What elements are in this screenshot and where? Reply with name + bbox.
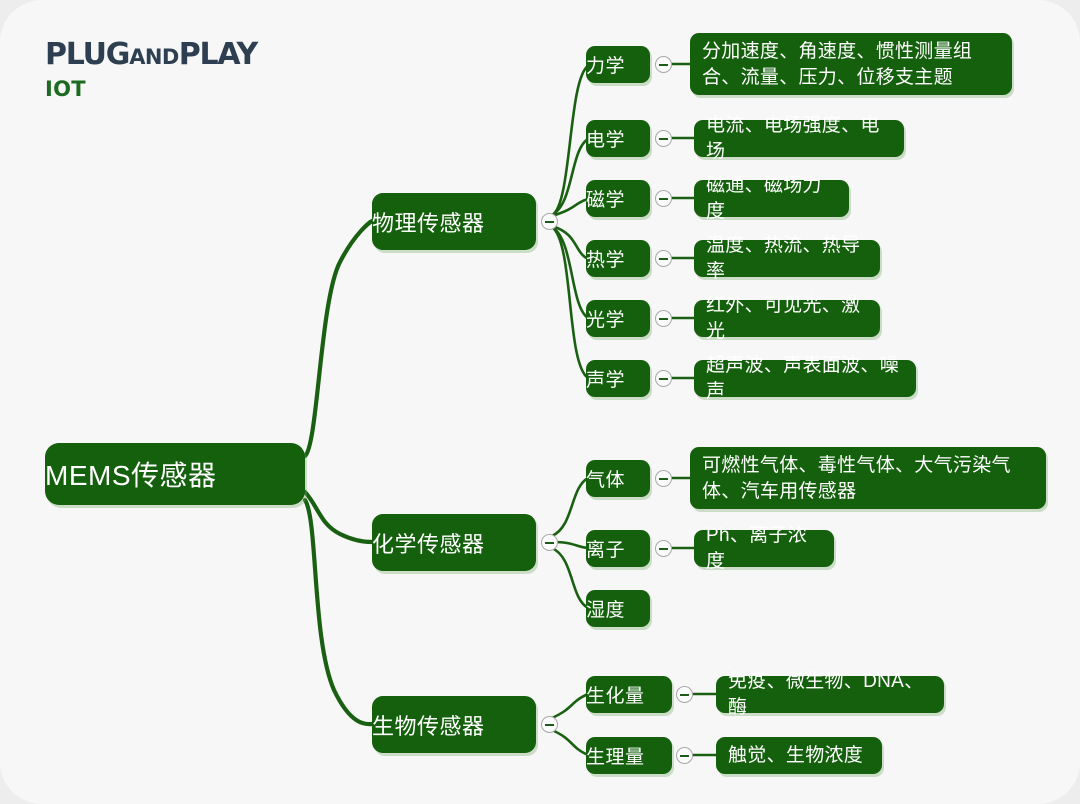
node-physiological-quantity-detail-label: 触觉、生物浓度 <box>728 743 870 769</box>
toggle-ion[interactable] <box>655 540 672 557</box>
node-physiological-quantity-label: 生理量 <box>586 742 672 769</box>
node-physiological-quantity[interactable]: 生理量 <box>586 737 672 774</box>
node-acoustics[interactable]: 声学 <box>586 360 650 397</box>
edge-root-physical <box>305 221 372 456</box>
node-mechanics[interactable]: 力学 <box>586 46 650 83</box>
node-chemical-sensor[interactable]: 化学传感器 <box>372 514 536 571</box>
toggle-gas[interactable] <box>655 470 672 487</box>
node-electrics-label: 电学 <box>586 125 650 152</box>
minus-icon <box>659 548 668 550</box>
node-biochemical-quantity-detail-label: 免疫、微生物、DNA、酶 <box>728 669 932 720</box>
node-root-label: MEMS传感器 <box>45 454 305 494</box>
edge-biological-physio <box>552 730 588 755</box>
toggle-electrics[interactable] <box>655 130 672 147</box>
edge-root-chemical <box>305 492 372 542</box>
minus-icon <box>659 138 668 140</box>
edge-root-biological <box>305 500 372 724</box>
node-electrics-detail[interactable]: 电流、电场强度、电场 <box>694 120 904 157</box>
node-chemical-sensor-label: 化学传感器 <box>372 527 536 559</box>
node-thermal-detail[interactable]: 温度、热流、热导率 <box>694 240 880 277</box>
node-humidity[interactable]: 湿度 <box>586 590 650 627</box>
minus-icon <box>680 694 689 696</box>
minus-icon <box>659 318 668 320</box>
logo-secondary-text: IOT <box>45 79 257 100</box>
minus-icon <box>545 542 554 544</box>
node-acoustics-detail-label: 超声波、声表面波、噪声 <box>706 353 904 404</box>
node-mechanics-label: 力学 <box>586 51 650 78</box>
edge-physical-acoustics <box>552 227 588 378</box>
node-humidity-label: 湿度 <box>586 595 650 622</box>
node-optics[interactable]: 光学 <box>586 300 650 337</box>
node-mechanics-detail-label: 分加速度、角速度、惯性测量组合、流量、压力、位移支主题 <box>702 39 1000 90</box>
minus-icon <box>680 755 689 757</box>
node-gas-detail-label: 可燃性气体、毒性气体、大气污染气体、汽车用传感器 <box>702 453 1034 504</box>
mindmap-canvas: PLUGANDPLAY IOT MEMS传感器 物理传感器 化学传感器 生物传感… <box>0 0 1080 804</box>
node-magnetics[interactable]: 磁学 <box>586 180 650 217</box>
brand-logo: PLUGANDPLAY IOT <box>45 40 257 100</box>
node-thermal[interactable]: 热学 <box>586 240 650 277</box>
edge-biological-biochem <box>552 694 588 718</box>
logo-and-text: AND <box>129 45 178 69</box>
edge-physical-thermal <box>552 226 588 259</box>
edge-physical-electrics <box>552 139 588 215</box>
node-gas[interactable]: 气体 <box>586 460 650 497</box>
node-biochemical-quantity-label: 生化量 <box>586 681 672 708</box>
node-root-mems-sensor[interactable]: MEMS传感器 <box>45 443 305 505</box>
node-gas-detail[interactable]: 可燃性气体、毒性气体、大气污染气体、汽车用传感器 <box>690 447 1046 509</box>
node-optics-label: 光学 <box>586 305 650 332</box>
node-physical-sensor[interactable]: 物理传感器 <box>372 193 536 250</box>
toggle-mechanics[interactable] <box>655 56 672 73</box>
node-physical-sensor-label: 物理传感器 <box>372 206 536 238</box>
node-gas-label: 气体 <box>586 465 650 492</box>
node-biochemical-quantity-detail[interactable]: 免疫、微生物、DNA、酶 <box>716 676 944 713</box>
minus-icon <box>545 724 554 726</box>
node-biological-sensor-label: 生物传感器 <box>372 709 536 741</box>
node-optics-detail[interactable]: 红外、可见光、激光 <box>694 300 880 337</box>
logo-play-text: PLAY <box>179 37 257 72</box>
toggle-biochemical-quantity[interactable] <box>676 686 693 703</box>
node-biochemical-quantity[interactable]: 生化量 <box>586 676 672 713</box>
node-physiological-quantity-detail[interactable]: 触觉、生物浓度 <box>716 737 882 774</box>
node-ion-detail-label: Ph、离子浓度 <box>706 523 822 574</box>
toggle-acoustics[interactable] <box>655 370 672 387</box>
node-optics-detail-label: 红外、可见光、激光 <box>706 293 868 344</box>
node-ion[interactable]: 离子 <box>586 530 650 567</box>
node-biological-sensor[interactable]: 生物传感器 <box>372 696 536 753</box>
edge-physical-mechanics <box>552 66 588 215</box>
toggle-magnetics[interactable] <box>655 190 672 207</box>
toggle-optics[interactable] <box>655 310 672 327</box>
toggle-chemical-sensor[interactable] <box>541 534 558 551</box>
edge-physical-magnetics <box>552 199 588 216</box>
node-magnetics-detail[interactable]: 磁通、磁场力度 <box>694 180 849 217</box>
edge-physical-optics <box>552 227 588 318</box>
node-thermal-detail-label: 温度、热流、热导率 <box>706 233 868 284</box>
edge-chemical-humidity <box>552 548 588 608</box>
logo-plug-text: PLUG <box>45 37 129 72</box>
minus-icon <box>659 64 668 66</box>
minus-icon <box>659 378 668 380</box>
toggle-thermal[interactable] <box>655 250 672 267</box>
node-electrics-detail-label: 电流、电场强度、电场 <box>706 113 892 164</box>
logo-primary-text: PLUGANDPLAY <box>45 40 257 70</box>
node-acoustics-label: 声学 <box>586 365 650 392</box>
node-electrics[interactable]: 电学 <box>586 120 650 157</box>
edge-chemical-gas <box>552 478 588 536</box>
node-ion-label: 离子 <box>586 535 650 562</box>
edge-chemical-ion <box>553 542 588 548</box>
node-mechanics-detail[interactable]: 分加速度、角速度、惯性测量组合、流量、压力、位移支主题 <box>690 33 1012 95</box>
minus-icon <box>659 258 668 260</box>
node-ion-detail[interactable]: Ph、离子浓度 <box>694 530 834 567</box>
toggle-physical-sensor[interactable] <box>541 213 558 230</box>
node-magnetics-label: 磁学 <box>586 185 650 212</box>
node-acoustics-detail[interactable]: 超声波、声表面波、噪声 <box>694 360 916 397</box>
node-magnetics-detail-label: 磁通、磁场力度 <box>706 173 837 224</box>
minus-icon <box>659 198 668 200</box>
node-thermal-label: 热学 <box>586 245 650 272</box>
minus-icon <box>659 478 668 480</box>
toggle-biological-sensor[interactable] <box>541 716 558 733</box>
toggle-physiological-quantity[interactable] <box>676 747 693 764</box>
minus-icon <box>545 221 554 223</box>
